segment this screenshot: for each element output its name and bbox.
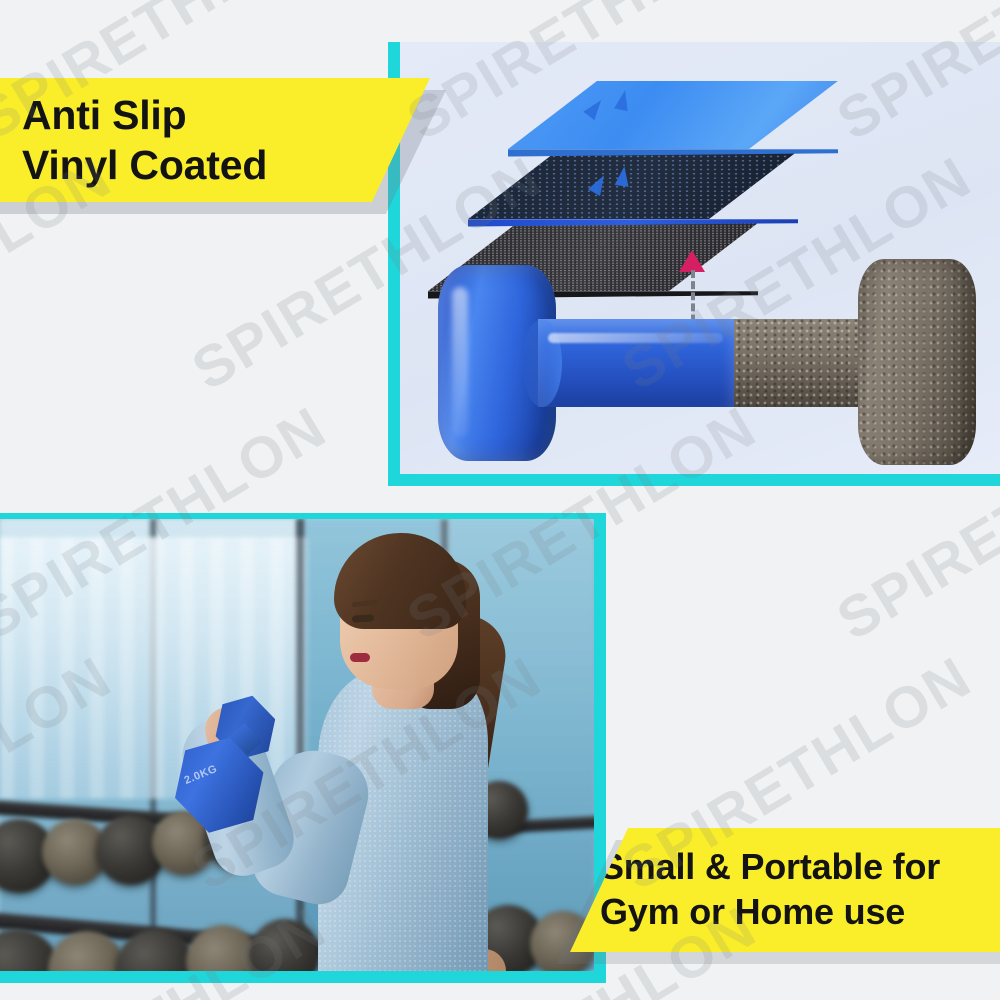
layer-vinyl-coating: [508, 81, 838, 149]
banner-line-2: Gym or Home use: [600, 890, 1000, 935]
layer-face: [508, 81, 838, 149]
gym-scene: 2.0KG: [0, 519, 594, 971]
blue-up-arrow-icon: [615, 165, 632, 187]
product-panel-background: [400, 42, 1000, 474]
lifestyle-photo-panel: 2.0KG: [0, 513, 606, 983]
banner-line-2: Vinyl Coated: [22, 140, 430, 190]
dumbbell-cutaway-illustration: [438, 257, 978, 467]
banner-line-1: Anti Slip: [22, 90, 430, 140]
feature-banner-portable: Small & Portable for Gym or Home use: [570, 828, 1000, 952]
dumbbell-head-bare-iron: [858, 259, 976, 465]
exploded-coating-layers-diagram: [420, 56, 880, 256]
dumbbell-handle-coated: [538, 319, 734, 407]
window-mullion: [296, 519, 305, 971]
layer-anti-slip-texture: [468, 151, 798, 219]
feature-banner-anti-slip: Anti Slip Vinyl Coated: [0, 78, 430, 202]
product-detail-panel: [388, 42, 1000, 486]
dumbbell-handle-bare-iron: [734, 319, 874, 407]
banner-line-1: Small & Portable for: [600, 845, 1000, 890]
layer-face: [468, 151, 798, 219]
product-poster: 2.0KG Anti Slip Vinyl Coated Small & Por…: [0, 0, 1000, 1000]
person-lips: [350, 653, 370, 662]
